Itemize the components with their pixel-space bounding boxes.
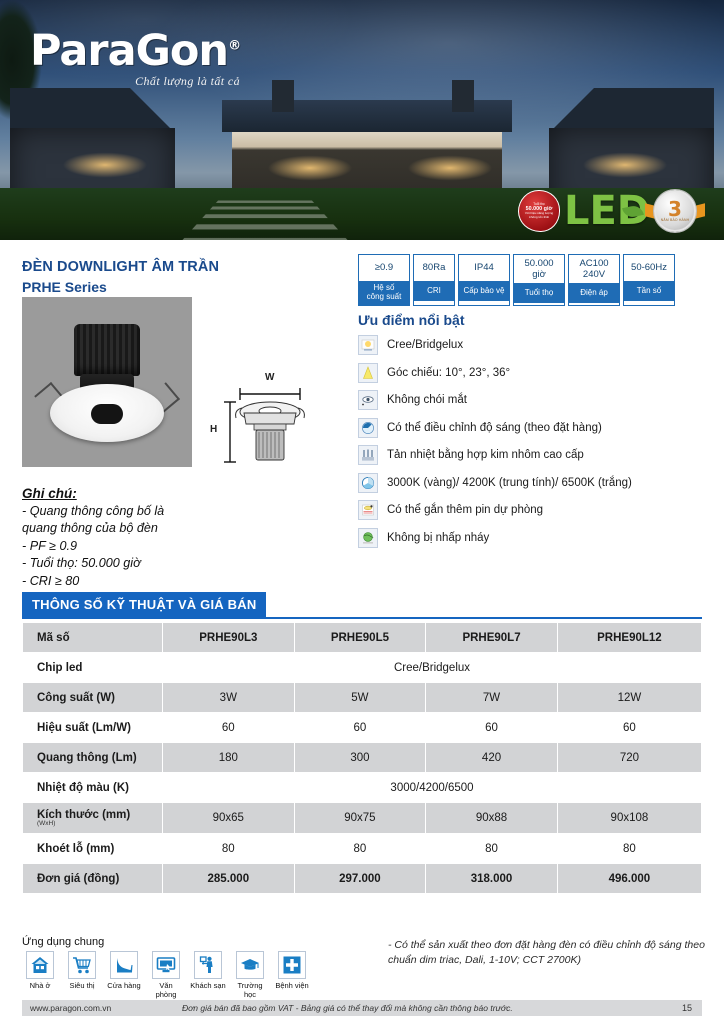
spec-badge-frequency: 50-60Hz Tần số [623,254,675,306]
table-cell: PRHE90L3 [163,623,295,653]
lifetime-badge-icon: Tuổi thọ 50.000 giờ Với hiệu năng lượng … [518,190,560,232]
table-cell: 90x88 [426,803,558,834]
product-series: PRHE Series [22,278,219,297]
applications-row: Nhà ở Siêu thị Cửa hàng Văn phòng [22,951,310,999]
note-item: - CRI ≥ 80 [22,573,222,590]
dimension-diagram: W H [208,372,328,472]
house-icon [26,951,54,979]
advantage-item: Không bị nhấp nháy [358,528,708,548]
spec-badge-label: Hệ sốcông suất [359,281,409,305]
hero-banner: ParaGon® Chất lượng là tất cả Tuổi thọ 5… [0,0,724,240]
chimney-right [452,80,474,112]
advantage-item: Tản nhiệt bằng hợp kim nhôm cao cấp [358,445,708,465]
row-header: Khoét lỗ (mm) [23,834,163,864]
spec-badge-label: Tuổi thọ [514,283,564,303]
lamp-heatsink-part [74,324,140,376]
application-label: Cửa hàng [106,981,142,990]
advantage-label: Có thể điều chỉnh độ sáng (theo đặt hàng… [387,422,602,434]
table-cell: 80 [163,834,295,864]
product-photo [22,297,192,467]
spec-badge-label: Tần số [624,281,674,301]
table-row: Hiệu suất (Lm/W) 60 60 60 60 [23,713,702,743]
row-header: Quang thông (Lm) [23,743,163,773]
table-cell: 60 [426,713,558,743]
table-cell: 12W [557,683,701,713]
backup-battery-icon [358,500,378,520]
spec-badge-row: ≥0.9 Hệ sốcông suất 80Ra CRI IP44 Cấp bả… [358,254,675,306]
section-divider [22,617,702,619]
warranty-years: 3 [668,200,682,218]
house-left-roof [10,88,170,128]
table-cell: 80 [557,834,701,864]
hotel-bellhop-icon [194,951,222,979]
high-heel-shoe-icon [110,951,138,979]
table-row: Chip led Cree/Bridgelux [23,653,702,683]
advantage-label: Không bị nhấp nháy [387,532,489,544]
table-cell: 3W [163,683,295,713]
table-cell-merged: Cree/Bridgelux [163,653,702,683]
row-header: Mã số [23,623,163,653]
spec-badge-value: ≥0.9 [359,255,409,281]
row-header: Chip led [23,653,163,683]
table-cell: 80 [294,834,426,864]
advantage-label: Có thể gắn thêm pin dự phòng [387,504,543,516]
hero-badge-group: Tuổi thọ 50.000 giờ Với hiệu năng lượng … [518,190,696,232]
advantages-title: Ưu điểm nổi bật [358,312,708,328]
table-cell: 80 [426,834,558,864]
application-label: Trường học [232,981,268,999]
advantage-item: Có thể gắn thêm pin dự phòng [358,500,708,520]
color-temperature-icon [358,473,378,493]
house-right-roof [554,88,714,128]
table-row: Khoét lỗ (mm) 80 80 80 80 [23,834,702,864]
table-row: Kích thước (mm) (WxH) 90x65 90x75 90x88 … [23,803,702,834]
applications-block: Ứng dụng chung Nhà ở Siêu thị Cửa hàng [22,936,310,999]
dimmer-icon [358,418,378,438]
table-cell: 720 [557,743,701,773]
logo-wordmark: ParaGon [30,26,228,76]
graduation-cap-icon [236,951,264,979]
note-item: - Tuổi thọ: 50.000 giờ [22,555,222,572]
application-item-hospital: Bệnh viện [274,951,310,999]
spec-badge-cri: 80Ra CRI [413,254,455,306]
table-cell: PRHE90L12 [557,623,701,653]
table-cell: 180 [163,743,295,773]
section-header: THÔNG SỐ KỸ THUẬT VÀ GIÁ BÁN [22,592,702,619]
table-row: Đơn giá (đồng) 285.000 297.000 318.000 4… [23,864,702,894]
spec-badge-voltage: AC100240V Điện áp [568,254,620,306]
advantage-item: Có thể điều chỉnh độ sáng (theo đặt hàng… [358,418,708,438]
no-flicker-icon [358,528,378,548]
table-cell: 496.000 [557,864,701,894]
dimension-drawing-svg [208,372,328,472]
table-cell: 5W [294,683,426,713]
application-item-office: Văn phòng [148,951,184,999]
notes-list: - Quang thông công bố là quang thông của… [22,503,222,590]
spec-badge-value: IP44 [459,255,509,281]
spec-badge-label: Cấp bảo vệ [459,281,509,301]
led-chip-icon [358,335,378,355]
application-label: Nhà ở [22,981,58,990]
spec-badge-value: AC100240V [569,255,619,283]
note-item: - Quang thông công bố là [22,503,222,520]
footer-page-number: 15 [682,1003,702,1013]
anti-glare-eye-icon [358,390,378,410]
advantages-block: Ưu điểm nổi bật Cree/Bridgelux Góc chiếu… [358,312,708,555]
advantage-item: Không chói mắt [358,390,708,410]
application-label: Siêu thị [64,981,100,990]
interior-light-glow-3 [60,150,150,180]
application-item-school: Trường học [232,951,268,999]
table-cell-merged: 3000/4200/6500 [163,773,702,803]
advantage-label: Không chói mắt [387,394,467,406]
beam-angle-icon [358,363,378,383]
spec-badge-ip-rating: IP44 Cấp bảo vệ [458,254,510,306]
interior-light-glow [250,150,370,186]
table-cell: 60 [294,713,426,743]
table-cell: 297.000 [294,864,426,894]
row-header: Hiệu suất (Lm/W) [23,713,163,743]
table-row: Nhiệt độ màu (K) 3000/4200/6500 [23,773,702,803]
table-row: Quang thông (Lm) 180 300 420 720 [23,743,702,773]
advantage-label: 3000K (vàng)/ 4200K (trung tính)/ 6500K … [387,477,632,489]
section-title: THÔNG SỐ KỸ THUẬT VÀ GIÁ BÁN [22,592,266,617]
application-item-store: Cửa hàng [106,951,142,999]
footer-disclaimer: Đơn giá bán đã bao gồm VAT - Bảng giá có… [182,1003,682,1013]
page-title: ĐÈN DOWNLIGHT ÂM TRẦN PRHE Series [22,258,219,296]
specifications-table: Mã số PRHE90L3 PRHE90L5 PRHE90L7 PRHE90L… [22,622,702,894]
application-item-hotel: Khách sạn [190,951,226,999]
heatsink-icon [358,445,378,465]
lamp-lens-slot [91,404,123,424]
spec-badge-label: CRI [414,281,454,301]
advantage-label: Tản nhiệt bằng hợp kim nhôm cao cấp [387,449,584,461]
table-row: Mã số PRHE90L3 PRHE90L5 PRHE90L7 PRHE90L… [23,623,702,653]
row-header: Kích thước (mm) (WxH) [23,803,163,834]
row-header-sublabel: (WxH) [37,820,158,827]
spec-badge-lifetime: 50.000giờ Tuổi thọ [513,254,565,306]
led-logo-icon: LED [564,191,650,231]
advantage-label: Cree/Bridgelux [387,339,463,351]
table-cell: 60 [557,713,701,743]
medical-cross-icon [278,951,306,979]
monitor-icon [152,951,180,979]
table-row: Công suất (W) 3W 5W 7W 12W [23,683,702,713]
application-item-house: Nhà ở [22,951,58,999]
spec-badge-value: 50-60Hz [624,255,674,281]
advantage-item: 3000K (vàng)/ 4200K (trung tính)/ 6500K … [358,473,708,493]
paragon-logo[interactable]: ParaGon® Chất lượng là tất cả [30,30,240,89]
table-cell: 90x65 [163,803,295,834]
advantage-item: Cree/Bridgelux [358,335,708,355]
spec-badge-label: Điện áp [569,283,619,303]
interior-light-glow-4 [580,150,670,180]
notes-block: Ghi chú: - Quang thông công bố là quang … [22,486,222,590]
footer-website[interactable]: www.paragon.com.vn [22,1003,182,1013]
interior-light-glow-2 [390,150,510,186]
applications-title: Ứng dụng chung [22,936,310,948]
page-footer: www.paragon.com.vn Đơn giá bán đã bao gồ… [22,1000,702,1016]
application-label: Khách sạn [190,981,226,990]
application-label: Văn phòng [148,981,184,999]
table-cell: 420 [426,743,558,773]
application-label: Bệnh viện [274,981,310,990]
notes-title: Ghi chú: [22,486,222,501]
table-cell: 90x108 [557,803,701,834]
table-cell: 60 [163,713,295,743]
registered-trademark-icon: ® [228,39,240,54]
dimension-label-w: W [265,372,274,383]
dimension-label-h: H [210,424,217,435]
note-item: quang thông của bộ đèn [22,520,222,537]
lifetime-badge-line3: Với hiệu năng lượng không tổn thất [521,212,557,218]
warranty-sub: NĂM BẢO HÀNH [661,218,690,222]
spec-badge-value: 50.000giờ [514,255,564,283]
downlight-illustration [44,322,170,442]
bottom-note: - Có thể sản xuất theo đơn đặt hàng đèn … [388,938,706,968]
spec-badge-value: 80Ra [414,255,454,281]
spec-badge-power-factor: ≥0.9 Hệ sốcông suất [358,254,410,306]
product-name: ĐÈN DOWNLIGHT ÂM TRẦN [22,258,219,278]
row-header: Nhiệt độ màu (K) [23,773,163,803]
row-header: Công suất (W) [23,683,163,713]
table-cell: PRHE90L5 [294,623,426,653]
catalog-page: ParaGon® Chất lượng là tất cả Tuổi thọ 5… [0,0,724,1024]
table-cell: 318.000 [426,864,558,894]
row-header: Đơn giá (đồng) [23,864,163,894]
advantage-item: Góc chiếu: 10°, 23°, 36° [358,363,708,383]
warranty-seal-icon: 3 NĂM BẢO HÀNH [654,190,696,232]
logo-tagline: Chất lượng là tất cả [30,74,240,89]
shopping-cart-icon [68,951,96,979]
table-cell: 90x75 [294,803,426,834]
advantage-label: Góc chiếu: 10°, 23°, 36° [387,367,510,379]
table-cell: 285.000 [163,864,295,894]
note-item: - PF ≥ 0.9 [22,538,222,555]
table-cell: 300 [294,743,426,773]
chimney-left [272,80,294,112]
table-cell: PRHE90L7 [426,623,558,653]
application-item-supermarket: Siêu thị [64,951,100,999]
table-cell: 7W [426,683,558,713]
